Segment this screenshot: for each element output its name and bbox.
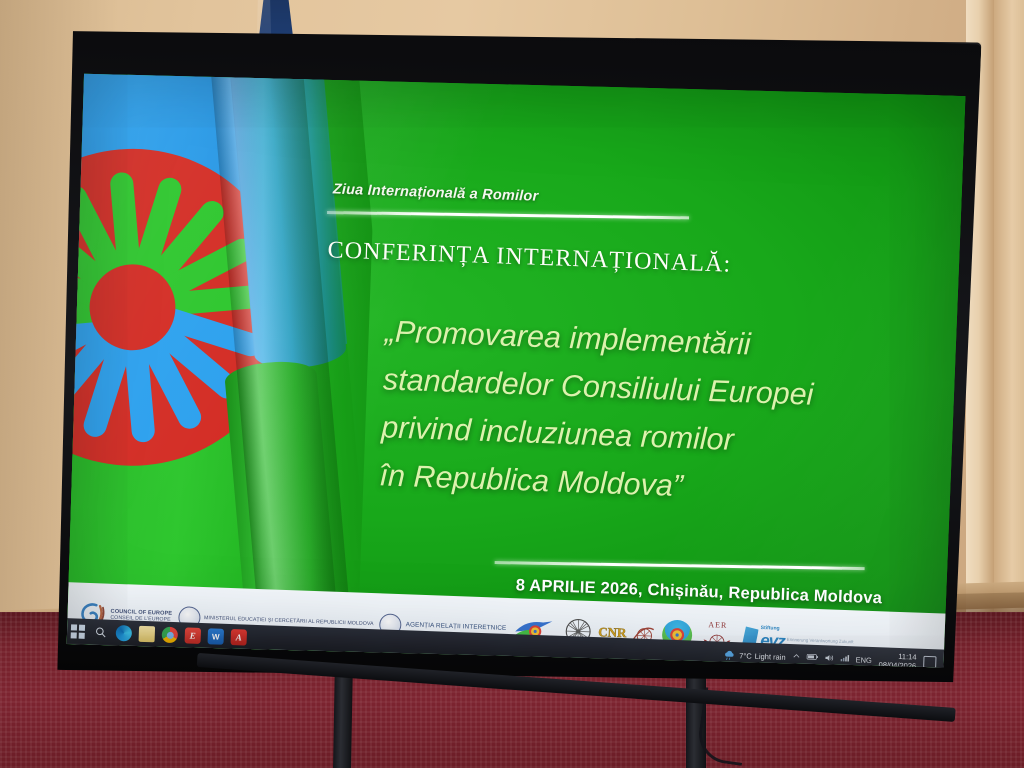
ari-line-2: RELAȚII — [436, 623, 461, 631]
notification-center-icon[interactable] — [923, 656, 936, 668]
volume-icon[interactable] — [824, 653, 834, 664]
weather-condition: Light rain — [755, 651, 786, 661]
tray-icons: ENG — [792, 652, 872, 666]
photo-scene: Ziua Internațională a Romilor CONFERINȚA… — [0, 0, 1024, 768]
min-line-2: ȘI CERCETĂRII — [268, 617, 307, 624]
rain-cloud-icon — [723, 649, 736, 660]
weather-widget[interactable]: 7°C Light rain — [723, 649, 786, 662]
microsoft-edge-icon[interactable] — [116, 625, 133, 642]
min-line-1: MINISTERUL EDUCAȚIEI — [204, 615, 267, 623]
presentation-slide: Ziua Internațională a Romilor CONFERINȚA… — [61, 64, 965, 675]
start-button[interactable] — [70, 623, 87, 640]
weather-temperature: 7°C — [739, 651, 752, 660]
search-icon[interactable] — [93, 624, 110, 641]
aer-label: AER — [708, 620, 727, 630]
show-hidden-icons-chevron-up-icon[interactable] — [792, 652, 800, 662]
taskbar-app-buttons: E W A — [66, 623, 247, 645]
language-indicator[interactable]: ENG — [855, 655, 872, 665]
evz-subtitle: Erinnerung Verantwortung Zukunft — [787, 636, 854, 643]
file-explorer-icon[interactable] — [139, 626, 156, 643]
google-chrome-icon[interactable] — [162, 627, 179, 644]
battery-icon[interactable] — [806, 653, 818, 663]
tv-screen[interactable]: Ziua Internațională a Romilor CONFERINȚA… — [61, 64, 965, 675]
min-line-3: AL REPUBLICII MOLDOVA — [308, 619, 374, 627]
slide-title: „Promovarea implementării standardelor C… — [379, 307, 946, 519]
microsoft-word-icon[interactable]: W — [207, 628, 224, 645]
adobe-acrobat-icon[interactable]: A — [230, 629, 247, 646]
windows-logo-icon — [71, 625, 85, 639]
ari-line-1: AGENȚIA — [406, 622, 435, 630]
television: Ziua Internațională a Romilor CONFERINȚA… — [46, 10, 981, 702]
ari-line-3: INTERETNICE — [463, 624, 507, 633]
roma-flag-artwork — [61, 64, 378, 664]
editor-app-icon[interactable]: E — [185, 627, 202, 644]
network-icon[interactable] — [840, 654, 849, 664]
